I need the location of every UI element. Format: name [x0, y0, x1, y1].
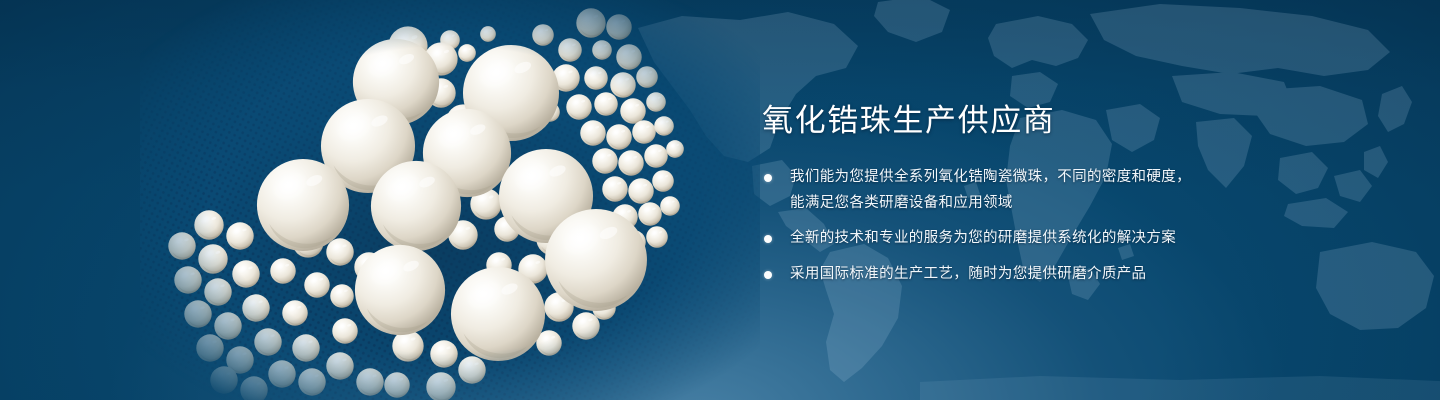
list-item: 采用国际标准的生产工艺，随时为您提供研磨介质产品: [762, 262, 1382, 288]
list-item: 全新的技术和专业的服务为您的研磨提供系统化的解决方案: [762, 226, 1382, 252]
feature-text-line1: 采用国际标准的生产工艺，随时为您提供研磨介质产品: [790, 266, 1146, 282]
hero-banner: 氧化锆珠生产供应商 我们能为您提供全系列氧化锆陶瓷微珠，不同的密度和硬度， 能满…: [0, 0, 1440, 400]
bullet-dot-icon: [764, 235, 772, 243]
feature-text-line2: 能满足您各类研磨设备和应用领域: [790, 191, 1382, 217]
feature-text-line1: 全新的技术和专业的服务为您的研磨提供系统化的解决方案: [790, 230, 1176, 246]
bullet-dot-icon: [764, 174, 772, 182]
feature-list: 我们能为您提供全系列氧化锆陶瓷微珠，不同的密度和硬度， 能满足您各类研磨设备和应…: [762, 165, 1382, 288]
bullet-dot-icon: [764, 271, 772, 279]
feature-text-line1: 我们能为您提供全系列氧化锆陶瓷微珠，不同的密度和硬度，: [790, 169, 1191, 185]
list-item: 我们能为您提供全系列氧化锆陶瓷微珠，不同的密度和硬度， 能满足您各类研磨设备和应…: [762, 165, 1382, 217]
banner-copy: 氧化锆珠生产供应商 我们能为您提供全系列氧化锆陶瓷微珠，不同的密度和硬度， 能满…: [762, 104, 1382, 288]
page-title: 氧化锆珠生产供应商: [762, 104, 1382, 139]
